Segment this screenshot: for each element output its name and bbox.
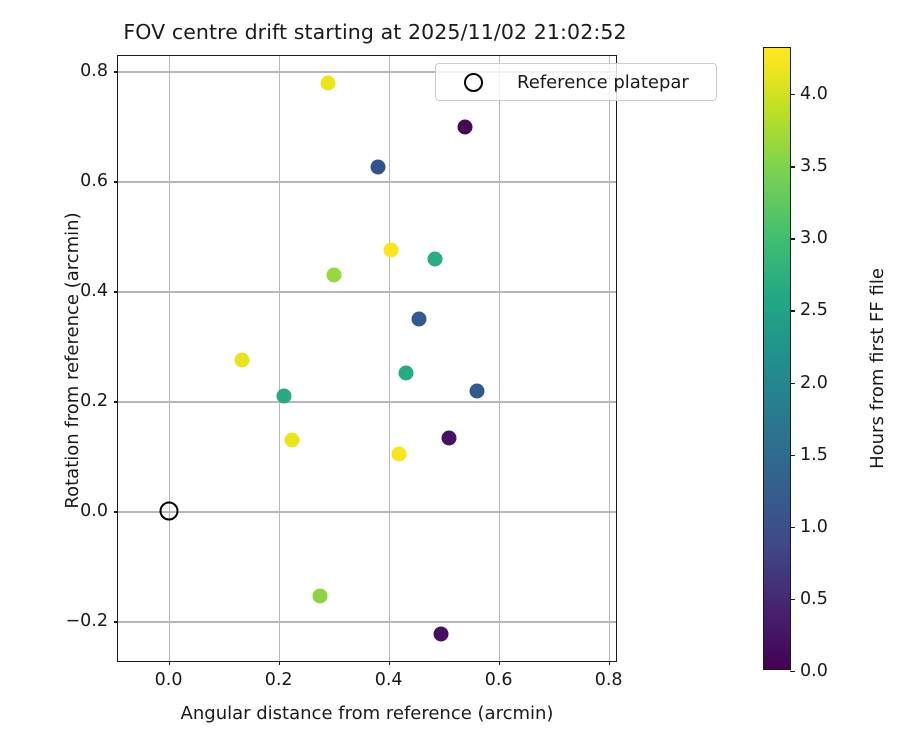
colorbar-tick <box>790 599 795 600</box>
figure-canvas: FOV centre drift starting at 2025/11/02 … <box>0 0 900 750</box>
x-tick-label: 0.0 <box>155 670 183 690</box>
legend-marker-reference-platepar <box>464 73 483 92</box>
colorbar-tick <box>790 166 795 167</box>
gridline-horizontal <box>118 621 616 622</box>
x-tick <box>389 661 390 665</box>
colorbar-tick-label: 3.0 <box>800 228 828 248</box>
chart-title: FOV centre drift starting at 2025/11/02 … <box>0 20 750 44</box>
colorbar: 0.00.51.01.52.02.53.03.54.0 <box>763 47 791 670</box>
gridline-vertical <box>279 56 280 661</box>
y-tick <box>114 401 118 402</box>
x-tick <box>169 661 170 665</box>
y-tick-label: 0.2 <box>80 391 108 411</box>
y-tick <box>114 621 118 622</box>
scatter-point <box>383 243 398 258</box>
colorbar-tick-label: 0.5 <box>800 589 828 609</box>
y-tick-label: 0.6 <box>80 171 108 191</box>
y-axis-label: Rotation from reference (arcmin) <box>62 57 83 664</box>
y-tick <box>114 511 118 512</box>
colorbar-tick-label: 2.5 <box>800 300 828 320</box>
legend-label-reference-platepar: Reference platepar <box>517 72 689 93</box>
x-tick <box>499 661 500 665</box>
gridline-vertical <box>609 56 610 661</box>
gridline-horizontal <box>118 181 616 182</box>
x-tick-label: 0.8 <box>595 670 623 690</box>
gridline-vertical <box>499 56 500 661</box>
colorbar-tick <box>790 671 795 672</box>
scatter-point <box>457 120 472 135</box>
scatter-point <box>391 447 406 462</box>
x-tick <box>279 661 280 665</box>
x-tick-label: 0.4 <box>375 670 403 690</box>
colorbar-tick-label: 2.0 <box>800 373 828 393</box>
colorbar-tick <box>790 527 795 528</box>
gridline-horizontal <box>118 291 616 292</box>
x-tick-label: 0.2 <box>265 670 293 690</box>
colorbar-tick-label: 3.5 <box>800 156 828 176</box>
colorbar-tick <box>790 238 795 239</box>
colorbar-tick-label: 1.0 <box>800 517 828 537</box>
x-tick <box>609 661 610 665</box>
scatter-point <box>370 159 385 174</box>
scatter-point <box>434 627 449 642</box>
gridline-vertical <box>169 56 170 661</box>
scatter-point <box>277 388 292 403</box>
y-tick-label: 0.4 <box>80 281 108 301</box>
y-tick <box>114 291 118 292</box>
scatter-point <box>284 433 299 448</box>
scatter-point <box>469 384 484 399</box>
colorbar-tick-label: 1.5 <box>800 445 828 465</box>
gridline-horizontal <box>118 401 616 402</box>
colorbar-tick <box>790 455 795 456</box>
y-tick-label: 0.8 <box>80 61 108 81</box>
x-tick-label: 0.6 <box>485 670 513 690</box>
colorbar-tick <box>790 94 795 95</box>
scatter-point <box>412 312 427 327</box>
legend[interactable]: Reference platepar <box>435 63 717 101</box>
scatter-point <box>326 268 341 283</box>
colorbar-tick <box>790 383 795 384</box>
scatter-point <box>428 252 443 267</box>
colorbar-tick <box>790 310 795 311</box>
x-axis-label: Angular distance from reference (arcmin) <box>117 703 617 724</box>
y-tick-label: 0.0 <box>80 501 108 521</box>
y-tick <box>114 71 118 72</box>
colorbar-tick-label: 4.0 <box>800 84 828 104</box>
gridline-vertical <box>389 56 390 661</box>
scatter-point <box>313 589 328 604</box>
colorbar-tick-label: 0.0 <box>800 661 828 681</box>
scatter-point <box>441 430 456 445</box>
scatter-point <box>234 353 249 368</box>
plot-axes: 0.00.20.40.60.80.80.60.40.20.0−0.2 <box>117 55 617 662</box>
scatter-point <box>398 366 413 381</box>
scatter-point <box>320 75 335 90</box>
colorbar-label: Hours from first FF file <box>867 57 888 680</box>
gridline-horizontal <box>118 511 616 512</box>
reference-platepar-marker <box>159 502 178 521</box>
y-tick <box>114 181 118 182</box>
